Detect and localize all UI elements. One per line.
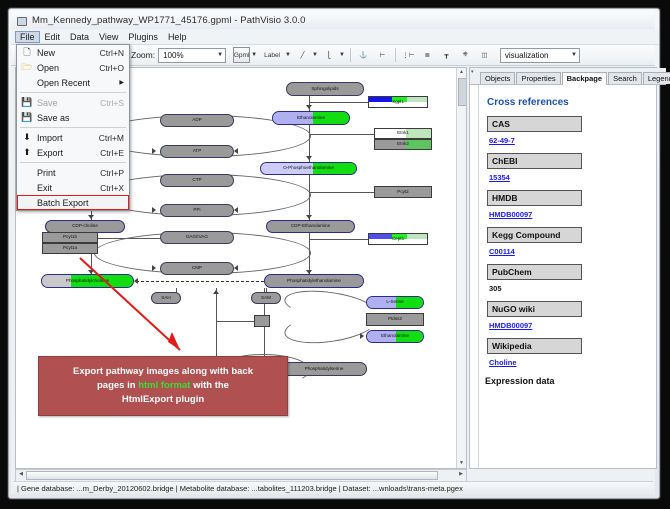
line-tool-button[interactable]: ╱ <box>294 47 311 63</box>
pathway-gene-pcyt2[interactable]: Pcyt2 <box>374 186 432 198</box>
align-left-icon: ⋮⊢ <box>402 51 414 59</box>
menu-edit[interactable]: Edit <box>40 31 66 43</box>
edge <box>309 239 368 240</box>
pathway-gene-sgpl1[interactable]: Sgpl1 <box>368 96 428 108</box>
visualization-combobox[interactable]: visualization ▼ <box>500 48 580 63</box>
pathway-gene-label: Etnk2 <box>397 142 409 147</box>
pathway-node-ppi[interactable]: PPi <box>160 204 234 217</box>
pathway-node-label: SAM <box>261 296 271 301</box>
pathway-node-label: ADP <box>192 118 201 123</box>
pathway-node-adp[interactable]: ADP <box>160 114 234 127</box>
file-menu-popup: 🗋 New Ctrl+N 🗁 Open Ctrl+O Open Recent ▶… <box>16 44 130 211</box>
arrow-icon <box>234 207 238 213</box>
arrow-icon <box>152 207 156 213</box>
pathway-node-ethanolamine-bot[interactable]: Ethanolamine <box>366 330 424 343</box>
pathway-node-label: Sphingolipids <box>311 87 338 92</box>
pathway-node-label: PPi <box>193 208 200 213</box>
arrow-icon <box>306 215 312 219</box>
pathway-gene-label: Cept1 <box>392 237 404 242</box>
menu-item-import[interactable]: ⬇ Import Ctrl+M <box>17 130 129 145</box>
chevron-down-icon: ▼ <box>571 52 577 58</box>
menu-separator <box>20 127 126 128</box>
tab-objects[interactable]: Objects <box>480 72 515 84</box>
edge <box>309 134 381 135</box>
xref-header-cas: CAS <box>487 116 582 132</box>
menu-item-new-label: New <box>37 48 100 58</box>
pathway-gene-etnk1[interactable]: Etnk1 <box>374 128 432 139</box>
menu-item-import-shortcut: Ctrl+M <box>99 133 129 143</box>
menu-item-print-label: Print <box>37 168 100 178</box>
menu-item-open-recent[interactable]: Open Recent ▶ <box>17 75 129 90</box>
title-bar: Mm_Kennedy_pathway_WP1771_45176.gpml - P… <box>11 11 655 29</box>
save-as-icon: 💾 <box>17 112 37 123</box>
edge <box>216 321 254 322</box>
callout-line-1: Export pathway images along with back <box>73 366 253 377</box>
menu-item-new-shortcut: Ctrl+N <box>100 48 129 58</box>
xref-value-nugo-wiki[interactable]: HMDB00097 <box>489 321 649 330</box>
backpage-content: Cross references CAS 62-49-7 ChEBI 15354… <box>478 85 649 467</box>
status-bar-text: | Gene database: ...m_Derby_20120602.bri… <box>13 484 463 493</box>
tab-properties[interactable]: Properties <box>516 72 560 84</box>
callout-line-2a: pages in <box>97 380 138 391</box>
menu-bar: File Edit Data View Plugins Help <box>11 30 659 45</box>
menu-item-export-label: Export <box>37 148 100 158</box>
stack-icon: ≣ <box>425 51 430 59</box>
menu-item-exit[interactable]: Exit Ctrl+X <box>17 180 129 195</box>
pathway-gene-label: Sgpl1 <box>392 100 404 105</box>
edge <box>309 192 374 193</box>
group-tool-button[interactable]: ⎈ <box>457 47 474 63</box>
canvas-vertical-scrollbar[interactable]: ▲ ▼ <box>456 68 466 468</box>
visualization-value: visualization <box>505 51 549 60</box>
pathway-node-label: Ethanolamine <box>297 116 325 121</box>
zoom-combobox[interactable]: 100% ▼ <box>158 48 226 63</box>
pathway-node-sphingolipids[interactable]: Sphingolipids <box>286 82 364 96</box>
annotation-callout: Export pathway images along with back pa… <box>38 356 288 416</box>
anchor-tool-button[interactable]: ⚓ <box>355 47 372 63</box>
menu-item-exit-shortcut: Ctrl+X <box>100 183 129 193</box>
pathway-node-label: ATP <box>193 149 202 154</box>
pathway-node-label: CTP <box>192 178 201 183</box>
menu-file[interactable]: File <box>15 31 40 43</box>
arrow-icon <box>213 290 219 294</box>
arrow-icon <box>88 215 94 219</box>
application-window: Mm_Kennedy_pathway_WP1771_45176.gpml - P… <box>8 8 660 499</box>
pathway-node-dag[interactable]: DAG/IVAG <box>160 231 234 244</box>
pathway-gene-pcyt1a[interactable]: Pcyt1a <box>42 243 98 254</box>
save-disk-icon: 💾 <box>17 97 37 108</box>
export-icon: ⬆ <box>17 147 37 158</box>
order-tool-button[interactable]: ◫ <box>476 47 493 63</box>
pathway-node-label: Ethanolamine <box>381 334 409 339</box>
menu-item-print[interactable]: Print Ctrl+P <box>17 165 129 180</box>
xref-value-wikipedia[interactable]: Choline <box>489 358 649 367</box>
pathway-node-phosphatidylserine[interactable]: Phosphatidylserine <box>281 362 367 376</box>
scrollbar-thumb[interactable] <box>26 471 438 480</box>
pathway-node-label: CDP-Ethanolamine <box>291 224 330 229</box>
menu-item-exit-label: Exit <box>37 183 100 193</box>
menu-item-save-as[interactable]: 💾 Save as <box>17 110 129 125</box>
arrow-icon <box>306 105 312 109</box>
receptor-icon: ⎣ <box>328 51 331 59</box>
menu-item-open-label: Open <box>37 63 99 73</box>
pathway-node-ethanolamine-top[interactable]: Ethanolamine <box>272 111 350 125</box>
scroll-left-icon[interactable]: ◀ <box>17 471 25 478</box>
pathway-node-label: L-Serine <box>386 300 403 305</box>
xref-header-wikipedia: Wikipedia <box>487 338 582 354</box>
pathway-node-label: Phosphatidylethanolamine <box>287 279 341 284</box>
menu-item-open-shortcut: Ctrl+O <box>99 63 129 73</box>
pathway-node-label: O-Phosphoethanolamine <box>283 166 334 171</box>
menu-item-export[interactable]: ⬆ Export Ctrl+E <box>17 145 129 160</box>
pathway-node-label: CDP-choline <box>72 224 98 229</box>
menu-item-open[interactable]: 🗁 Open Ctrl+O <box>17 60 129 75</box>
receptor-dropdown-icon[interactable]: ▼ <box>339 52 345 58</box>
xref-value-pubchem: 305 <box>489 284 649 293</box>
pathway-gene-etnk2[interactable]: Etnk2 <box>374 139 432 150</box>
status-bar: | Gene database: ...m_Derby_20120602.bri… <box>13 481 653 494</box>
pathway-gene-label: Pcyt1a <box>63 246 77 251</box>
menu-item-new[interactable]: 🗋 New Ctrl+N <box>17 45 129 60</box>
edge <box>309 102 369 103</box>
datanode-tool-button[interactable]: Gpml <box>233 47 250 63</box>
open-folder-icon: 🗁 <box>17 60 37 76</box>
group-icon: ⎈ <box>463 51 468 59</box>
tab-backpage[interactable]: Backpage <box>562 72 607 85</box>
align-center-icon: ⊢ <box>380 51 386 59</box>
callout-line-2-highlight: html format <box>138 380 190 391</box>
xref-header-hmdb: HMDB <box>487 190 582 206</box>
xref-value-kegg-compound[interactable]: C00114 <box>489 247 649 256</box>
menu-item-open-recent-label: Open Recent <box>37 78 119 88</box>
pathway-gene-pemt-block[interactable] <box>254 315 270 327</box>
menu-item-save-as-label: Save as <box>37 113 124 123</box>
datanode-icon: Gpml <box>234 52 250 59</box>
scroll-up-icon[interactable]: ▲ <box>458 69 465 76</box>
menu-item-save-label: Save <box>37 98 100 108</box>
align-center-tool-button[interactable]: ⊢ <box>374 47 391 63</box>
pathway-gene-label: Pcyt1b <box>63 235 77 240</box>
pathway-node-label: DAG/IVAG <box>186 235 208 240</box>
menu-view[interactable]: View <box>94 31 123 43</box>
xref-value-cas[interactable]: 62-49-7 <box>489 136 649 145</box>
line-icon: ╱ <box>301 51 305 59</box>
menu-item-batch-export[interactable]: Batch Export <box>17 195 129 210</box>
pathway-gene-label: Pcyt2 <box>397 190 409 195</box>
scrollbar-thumb[interactable] <box>458 78 467 106</box>
arrow-icon <box>152 148 156 154</box>
pathway-node-ctp[interactable]: CTP <box>160 174 234 187</box>
red-pointer-arrow-icon <box>76 254 196 364</box>
menu-item-export-shortcut: Ctrl+E <box>100 148 129 158</box>
line-dropdown-icon[interactable]: ▼ <box>312 52 318 58</box>
zoom-label: Zoom: <box>131 50 155 60</box>
xref-header-pubchem: PubChem <box>487 264 582 280</box>
menu-item-batch-export-label: Batch Export <box>37 198 129 208</box>
align-left-tool-button[interactable]: ⋮⊢ <box>400 47 417 63</box>
new-document-icon: 🗋 <box>17 45 37 61</box>
menu-item-save: 💾 Save Ctrl+S <box>17 95 129 110</box>
import-icon: ⬇ <box>17 132 37 143</box>
arrow-icon <box>306 156 312 160</box>
xref-header-nugo-wiki: NuGO wiki <box>487 301 582 317</box>
menu-separator <box>20 92 126 93</box>
xref-header-kegg-compound: Kegg Compound <box>487 227 582 243</box>
pathway-gene-label: Etnk1 <box>397 131 409 136</box>
menu-help[interactable]: Help <box>163 31 192 43</box>
zoom-value: 100% <box>163 51 183 60</box>
cross-references-title: Cross references <box>487 97 649 108</box>
arrow-icon <box>234 265 238 271</box>
pathway-node-l-serine[interactable]: L-Serine <box>366 296 424 309</box>
receptor-tool-button[interactable]: ⎣ <box>321 47 338 63</box>
scroll-down-icon[interactable]: ▼ <box>458 460 465 467</box>
chevron-down-icon: ▼ <box>217 52 223 58</box>
submenu-arrow-icon: ▶ <box>119 79 129 86</box>
window-inner: Mm_Kennedy_pathway_WP1771_45176.gpml - P… <box>11 11 655 494</box>
side-panel: ▾ Objects Properties Backpage Search Leg… <box>469 67 657 469</box>
stack-tool-button[interactable]: ≣ <box>419 47 436 63</box>
side-panel-tabstrip: ▾ Objects Properties Backpage Search Leg… <box>470 68 666 85</box>
arrow-icon <box>234 148 238 154</box>
datanode-dropdown-icon[interactable]: ▼ <box>251 52 257 58</box>
order-icon: ◫ <box>481 51 487 59</box>
pathway-gene-label: Ptdss2 <box>388 317 402 322</box>
app-root: Mm_Kennedy_pathway_WP1771_45176.gpml - P… <box>0 0 670 509</box>
xref-value-hmdb[interactable]: HMDB00097 <box>489 210 649 219</box>
pathway-gene-cept1[interactable]: Cept1 <box>368 233 428 245</box>
window-title: Mm_Kennedy_pathway_WP1771_45176.gpml - P… <box>32 15 306 26</box>
pathway-node-sam[interactable]: SAM <box>251 292 281 304</box>
tab-legend[interactable]: Legend <box>643 72 670 84</box>
callout-line-3: HtmlExport plugin <box>122 394 204 405</box>
tab-search[interactable]: Search <box>608 72 642 84</box>
tab-overflow-icon[interactable]: ▾ <box>471 70 474 75</box>
app-window-icon <box>16 15 27 26</box>
distribute-icon: ┳ <box>444 51 448 59</box>
label-tool-button[interactable]: Label <box>260 47 284 63</box>
scroll-right-icon[interactable]: ▶ <box>457 471 465 478</box>
callout-line-2b: with the <box>190 380 229 391</box>
label-icon: Label <box>264 52 280 59</box>
pathway-node-label: Phosphatidylserine <box>305 367 344 372</box>
xref-value-chebi[interactable]: 15354 <box>489 173 649 182</box>
pathway-node-o-phosphoethanolamine[interactable]: O-Phosphoethanolamine <box>260 162 357 175</box>
pathway-node-cdp-ethanolamine[interactable]: CDP-Ethanolamine <box>266 220 355 233</box>
pathway-node-atp[interactable]: ATP <box>160 145 234 158</box>
curve-edge <box>282 306 377 349</box>
distribute-tool-button[interactable]: ┳ <box>438 47 455 63</box>
arrow-icon <box>360 333 364 339</box>
menu-item-print-shortcut: Ctrl+P <box>100 168 129 178</box>
pathway-node-phosphatidylethanolamine[interactable]: Phosphatidylethanolamine <box>264 274 364 288</box>
pathway-gene-pcyt1b[interactable]: Pcyt1b <box>42 232 98 243</box>
menu-plugins[interactable]: Plugins <box>123 31 163 43</box>
anchor-icon: ⚓ <box>359 51 367 59</box>
expression-data-label: Expression data <box>485 376 649 386</box>
menu-item-import-label: Import <box>37 133 99 143</box>
label-dropdown-icon[interactable]: ▼ <box>285 52 291 58</box>
menu-item-save-shortcut: Ctrl+S <box>100 98 129 108</box>
menu-separator <box>20 162 126 163</box>
pathway-gene-ptdss2[interactable]: Ptdss2 <box>366 313 424 326</box>
xref-header-chebi: ChEBI <box>487 153 582 169</box>
menu-data[interactable]: Data <box>65 31 94 43</box>
